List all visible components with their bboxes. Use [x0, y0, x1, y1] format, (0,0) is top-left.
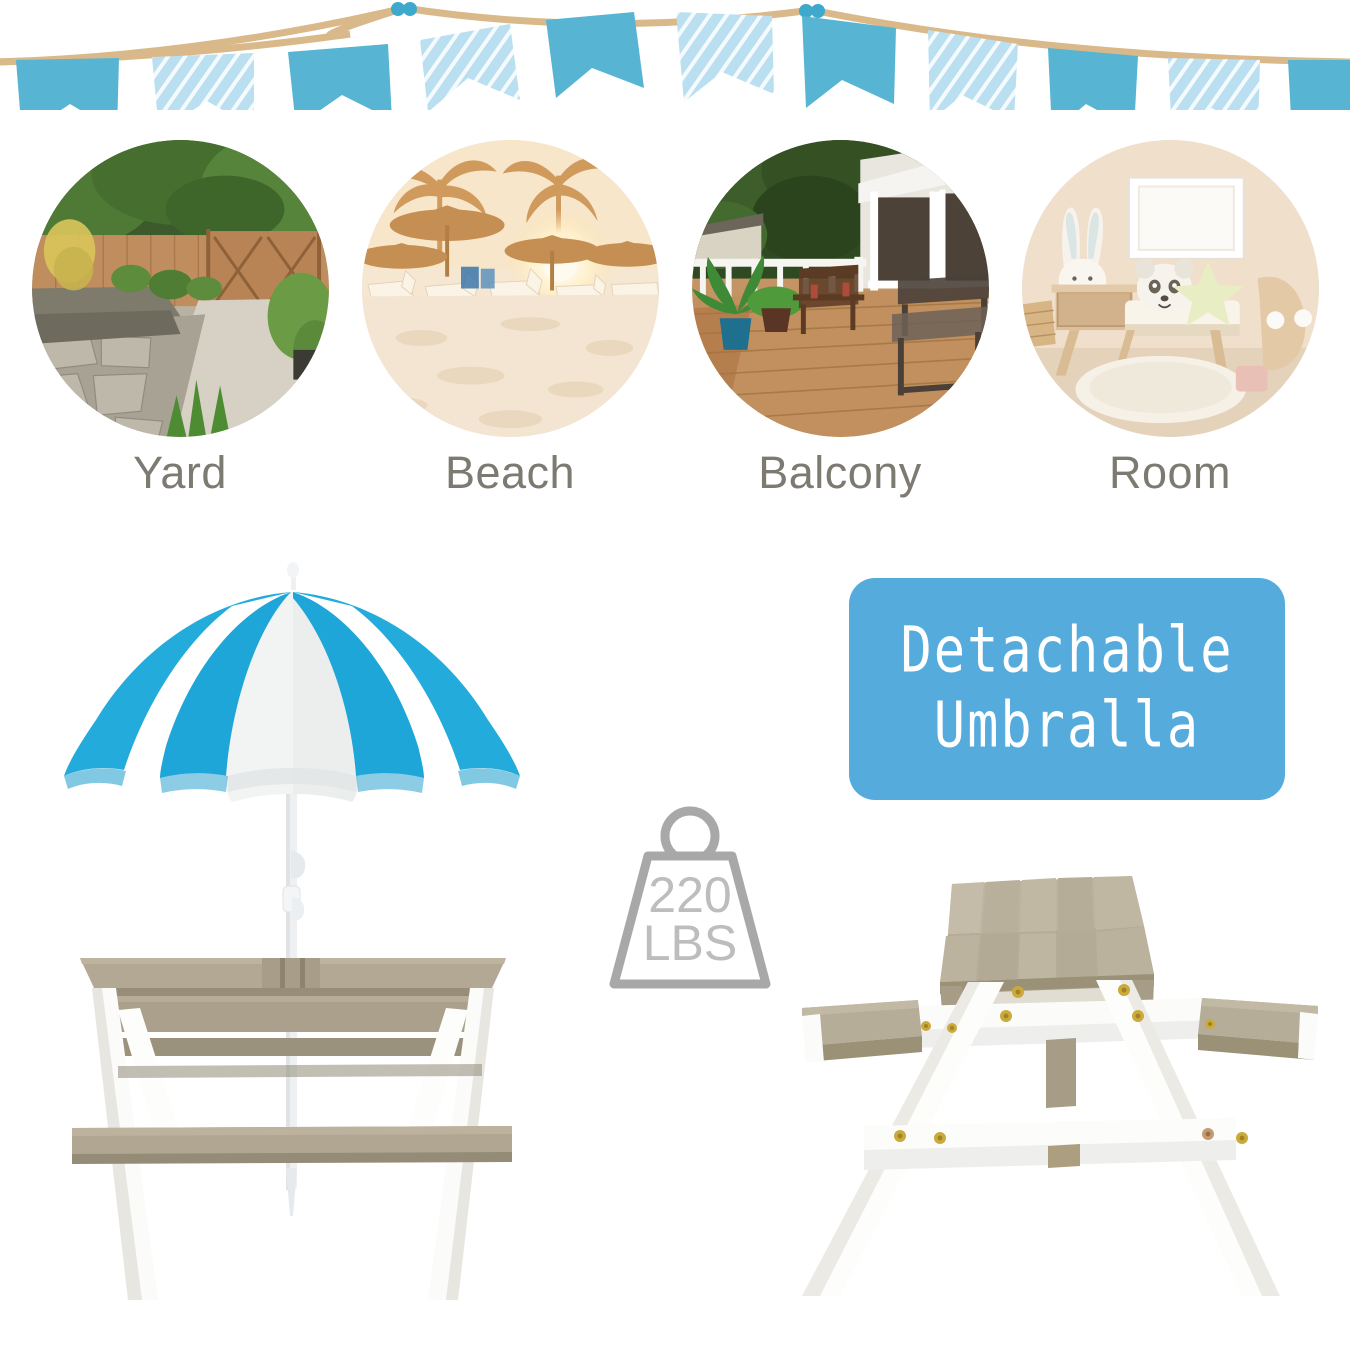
scene-label-beach: Beach — [445, 447, 575, 499]
scene-label-yard: Yard — [133, 447, 227, 499]
detachable-umbrella-badge[interactable]: Detachable Umbralla — [849, 578, 1285, 800]
bunting-flags — [16, 12, 1350, 110]
bunting-knot-left — [391, 2, 417, 16]
kids-picnic-table-angled-view — [780, 840, 1340, 1310]
picnic-table-front — [72, 958, 512, 1300]
yard-illustration — [32, 140, 329, 437]
weight-capacity-icon: 220 LBS — [590, 800, 790, 1000]
bunting-knot-right — [799, 4, 825, 18]
scene-item-balcony[interactable]: Balcony — [690, 140, 990, 520]
scene-item-room[interactable]: Room — [1020, 140, 1320, 520]
scene-label-room: Room — [1109, 447, 1231, 499]
balcony-illustration — [692, 140, 989, 437]
yard-scene-photo — [32, 140, 329, 437]
room-scene-photo — [1022, 140, 1319, 437]
umbrella-with-picnic-table — [0, 540, 600, 1300]
weight-icon-svg: 220 LBS — [590, 800, 790, 1000]
scene-item-beach[interactable]: Beach — [360, 140, 660, 520]
balcony-scene-photo — [692, 140, 989, 437]
bunting-svg — [0, 0, 1350, 110]
scene-item-yard[interactable]: Yard — [30, 140, 330, 520]
umbrella-table-illustration — [0, 540, 600, 1300]
beach-illustration — [362, 140, 659, 437]
scene-circle-row: Yard — [0, 140, 1350, 520]
badge-line-2: Umbralla — [934, 681, 1200, 773]
bunting-banner — [0, 0, 1350, 110]
scene-label-balcony: Balcony — [758, 447, 922, 499]
room-illustration — [1022, 140, 1319, 437]
picnic-table-angled-illustration — [780, 840, 1340, 1310]
beach-scene-photo — [362, 140, 659, 437]
umbrella-canopy — [64, 562, 520, 802]
weight-unit: LBS — [643, 915, 738, 971]
